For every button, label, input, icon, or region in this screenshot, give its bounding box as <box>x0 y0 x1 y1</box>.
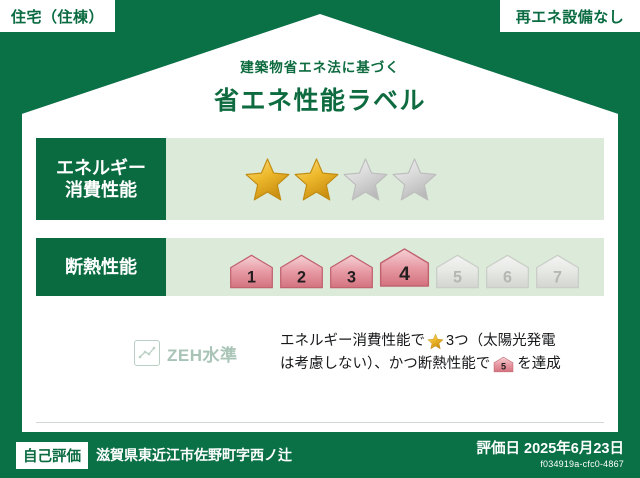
house-grade-number: 5 <box>501 362 506 372</box>
zeh-description-line2: は考慮しない）、かつ断熱性能で 5 を達成 <box>280 353 561 376</box>
badge-renewable-equipment: 再エネ設備なし <box>500 0 640 32</box>
energy-label-line1: エネルギー <box>56 157 146 180</box>
title-subtitle: 建築物省エネ法に基づく <box>0 56 640 76</box>
inline-star-icon <box>425 330 446 353</box>
evaluation-date: 評価日 2025年6月23日 <box>477 440 624 458</box>
zeh-mark-label: ZEH水準 <box>167 341 238 366</box>
house-grade-active-icon: 4 <box>378 245 431 290</box>
evaluation-type-badge: 自己評価 <box>16 442 88 469</box>
page-title: 建築物省エネ法に基づく 省エネ性能ラベル <box>0 56 640 117</box>
insulation-performance-value: 1234567 <box>166 238 604 296</box>
star-empty-icon <box>342 156 389 203</box>
energy-performance-row: エネルギー 消費性能 <box>36 138 604 220</box>
star-empty-icon <box>391 156 438 203</box>
insulation-label: 断熱性能 <box>65 256 137 279</box>
zeh-standard-block: ZEH水準 エネルギー消費性能で 3つ（太陽光発電 は考慮しない）、かつ断熱性能… <box>36 330 604 377</box>
house-grade-active-icon: 3 <box>328 253 375 290</box>
property-address: 滋賀県東近江市佐野町字西ノ辻 <box>96 445 292 465</box>
house-grade-number: 6 <box>503 268 512 286</box>
zeh-line2-text-b: を達成 <box>517 353 561 376</box>
zeh-description: エネルギー消費性能で 3つ（太陽光発電 は考慮しない）、かつ断熱性能で 5 を達… <box>280 330 561 377</box>
zeh-square-icon <box>134 340 160 366</box>
house-grade-number: 7 <box>553 268 562 286</box>
badge-building-type: 住宅（住棟） <box>0 0 115 32</box>
energy-performance-label: 住宅（住棟） 再エネ設備なし 建築物省エネ法に基づく 省エネ性能ラベル エネルギ… <box>0 0 640 478</box>
energy-performance-label-box: エネルギー 消費性能 <box>36 138 166 220</box>
inline-house-icon: 5 <box>490 353 517 376</box>
house-grade-number: 1 <box>247 268 256 286</box>
energy-performance-value <box>166 138 604 220</box>
house-grade-number: 4 <box>399 262 410 284</box>
house-grade-active-icon: 2 <box>278 253 325 290</box>
footer-bar: 自己評価 滋賀県東近江市佐野町字西ノ辻 評価日 2025年6月23日 f0349… <box>0 432 640 478</box>
zeh-line1-text-b: 3つ（太陽光発電 <box>446 330 556 353</box>
house-grade-inactive-icon: 7 <box>534 253 581 290</box>
zeh-mark: ZEH水準 <box>36 340 254 366</box>
inline-house-icon: 5 <box>493 356 514 373</box>
zeh-line1-text-a: エネルギー消費性能で <box>280 330 425 353</box>
zeh-line2-text-a: は考慮しない）、かつ断熱性能で <box>280 353 490 376</box>
house-grade-inactive-icon: 5 <box>434 253 481 290</box>
house-grade-number: 5 <box>453 268 462 286</box>
star-filled-icon <box>293 156 340 203</box>
insulation-grade-scale: 1234567 <box>166 245 581 290</box>
footer-right-group: 評価日 2025年6月23日 f034919a-cfc0-4867 <box>477 440 624 470</box>
house-grade-active-icon: 1 <box>228 253 275 290</box>
star-filled-icon <box>244 156 291 203</box>
house-grade-number: 2 <box>297 268 306 286</box>
zeh-description-line1: エネルギー消費性能で 3つ（太陽光発電 <box>280 330 561 353</box>
star-rating <box>166 156 438 203</box>
footer-divider <box>36 422 604 423</box>
inline-star-icon <box>427 333 444 350</box>
insulation-performance-label-box: 断熱性能 <box>36 238 166 296</box>
insulation-performance-row: 断熱性能 1234567 <box>36 238 604 296</box>
evaluation-id: f034919a-cfc0-4867 <box>477 459 624 470</box>
house-grade-inactive-icon: 6 <box>484 253 531 290</box>
house-grade-number: 3 <box>347 268 356 286</box>
title-main: 省エネ性能ラベル <box>0 81 640 117</box>
energy-label-line2: 消費性能 <box>65 179 137 202</box>
